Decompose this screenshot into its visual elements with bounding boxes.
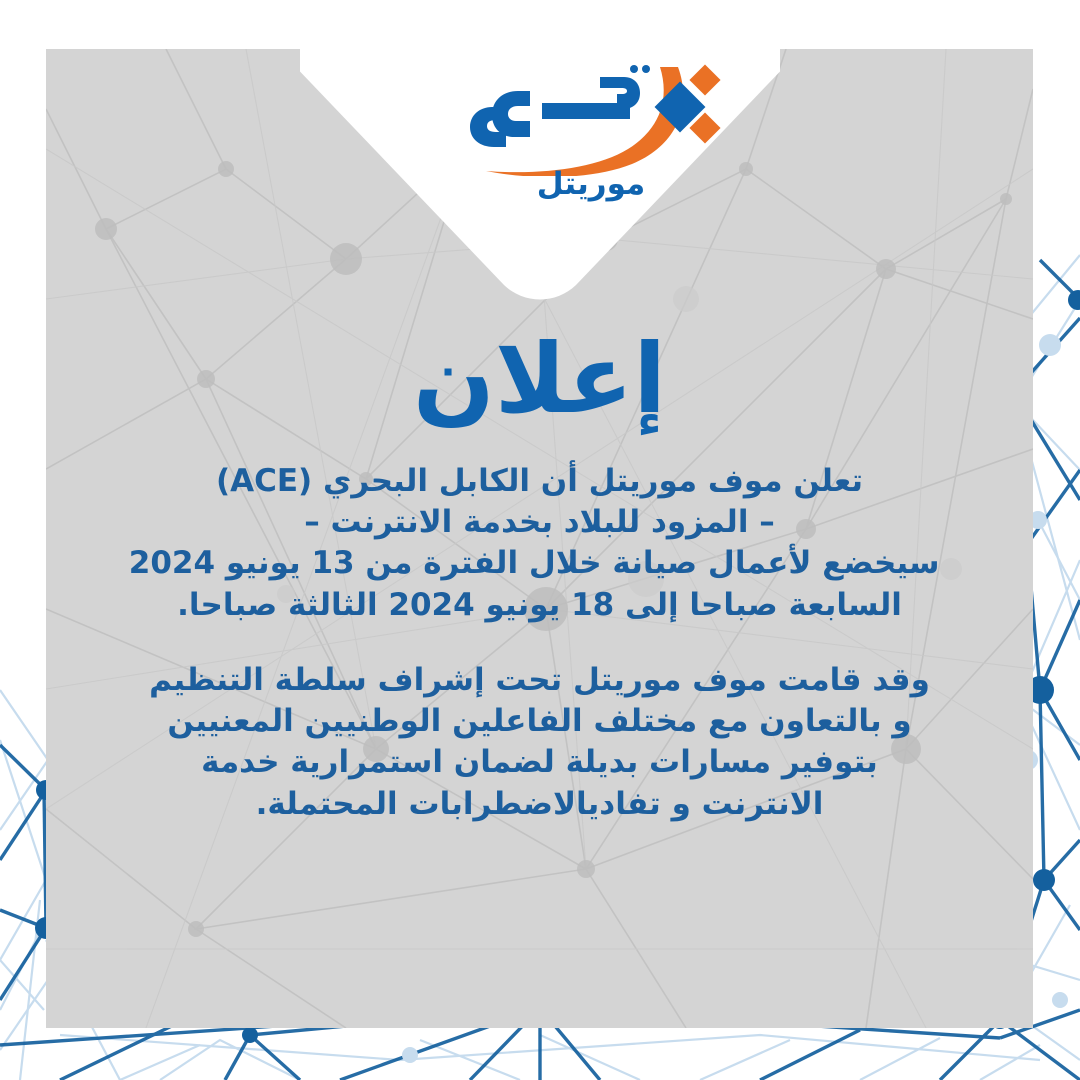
paragraph-maintenance-notice: تعلن موف موريتل أن الكابل البحري (ACE) –… [140,461,940,626]
announcement-poster: موريتل إعلان تعلن موف موريتل أن الكابل ا… [0,0,1080,1080]
page-title: إعلان [413,331,666,427]
content-area: إعلان تعلن موف موريتل أن الكابل البحري (… [46,49,1033,1028]
announcement-line: السابعة صباحا إلى 18 يونيو 2024 الثالثة … [140,585,940,626]
announcement-line: وقد قامت موف موريتل تحت إشراف سلطة التنظ… [140,660,940,701]
paragraph-mitigation-notice: وقد قامت موف موريتل تحت إشراف سلطة التنظ… [140,660,940,825]
announcement-line: بتوفير مسارات بديلة لضمان استمرارية خدمة [140,742,940,783]
announcement-line: سيخضع لأعمال صيانة خلال الفترة من 13 يون… [140,543,940,584]
announcement-line: تعلن موف موريتل أن الكابل البحري (ACE) [140,461,940,502]
announcement-line: الانترنت و تفاديالاضطرابات المحتملة. [140,784,940,825]
announcement-line: و بالتعاون مع مختلف الفاعلين الوطنيين ال… [140,701,940,742]
announcement-line: – المزود للبلاد بخدمة الانترنت – [140,502,940,543]
announcement-body: تعلن موف موريتل أن الكابل البحري (ACE) –… [140,461,940,825]
